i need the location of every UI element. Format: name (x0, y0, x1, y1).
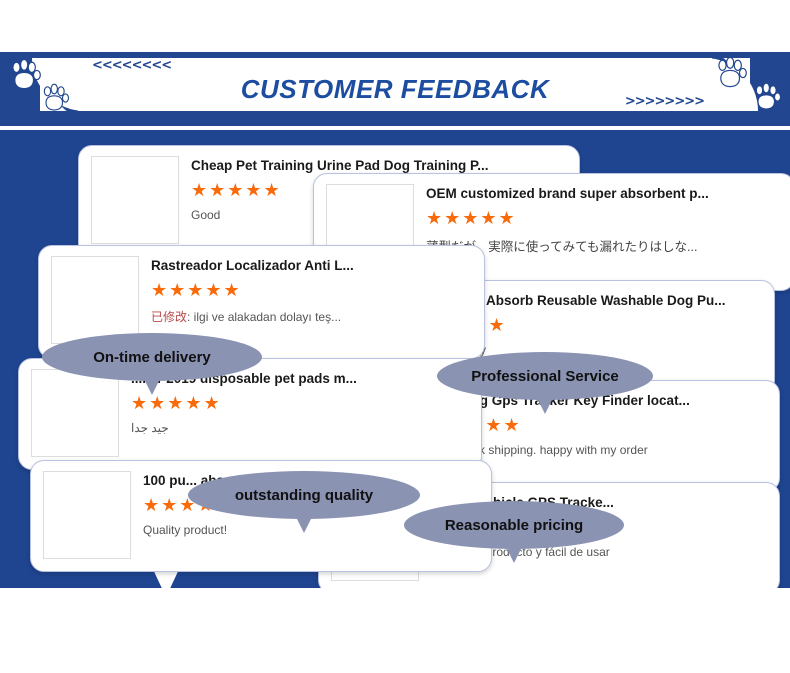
paw-print-icon (8, 58, 42, 92)
review-comment-text: : ilgi ve alakadan dolayı teş... (187, 310, 341, 324)
callout-professional-service[interactable]: Professional Service (437, 352, 653, 400)
callout-tail (143, 377, 161, 395)
callout-on-time-delivery[interactable]: On-time delivery (42, 333, 262, 381)
review-modified-label: 已修改 (151, 310, 187, 324)
chevron-right-decoration: >>>>>>>> (625, 94, 704, 109)
callout-tail (505, 545, 523, 563)
callout-label: On-time delivery (93, 349, 211, 366)
feedback-poster: <<<<<<<< >>>>>>>> CUSTOMER FEEDBACK (0, 0, 790, 673)
paw-print-icon (752, 82, 782, 112)
callout-reasonable-pricing[interactable]: Reasonable pricing (404, 501, 624, 549)
callout-label: Reasonable pricing (445, 517, 583, 534)
feedback-panel: Good quality Diamond Cheap Pet Training … (0, 130, 790, 588)
review-title: Rastreador Localizador Anti L... (151, 258, 472, 275)
callout-outstanding-quality[interactable]: outstanding quality (188, 471, 420, 519)
star-rating: ★★★★★ (151, 282, 472, 300)
product-thumb-mickler-husky: Mickler (31, 369, 119, 457)
review-title: OEM customized brand super absorbent p..… (426, 186, 782, 203)
product-thumb-gps-tracker-black (51, 256, 139, 344)
review-comment: جيد جدا (131, 421, 469, 435)
callout-label: Professional Service (471, 368, 619, 385)
review-comment: 已修改: ilgi ve alakadan dolayı teş... (151, 308, 472, 325)
callout-tail (295, 515, 313, 533)
star-rating: ★★★★★ (426, 210, 782, 228)
product-thumb-training-pad: Good quality Diamond (91, 156, 179, 244)
product-thumb-mickler-box: Mickler (43, 471, 131, 559)
chevron-left-decoration: <<<<<<<< (92, 58, 171, 73)
paw-print-icon (40, 83, 70, 113)
callout-tail (536, 396, 554, 414)
star-rating: ★★★★★ (131, 395, 469, 413)
callout-label: outstanding quality (235, 487, 373, 504)
banner-white-shape (78, 58, 712, 111)
paw-print-icon (714, 56, 748, 90)
